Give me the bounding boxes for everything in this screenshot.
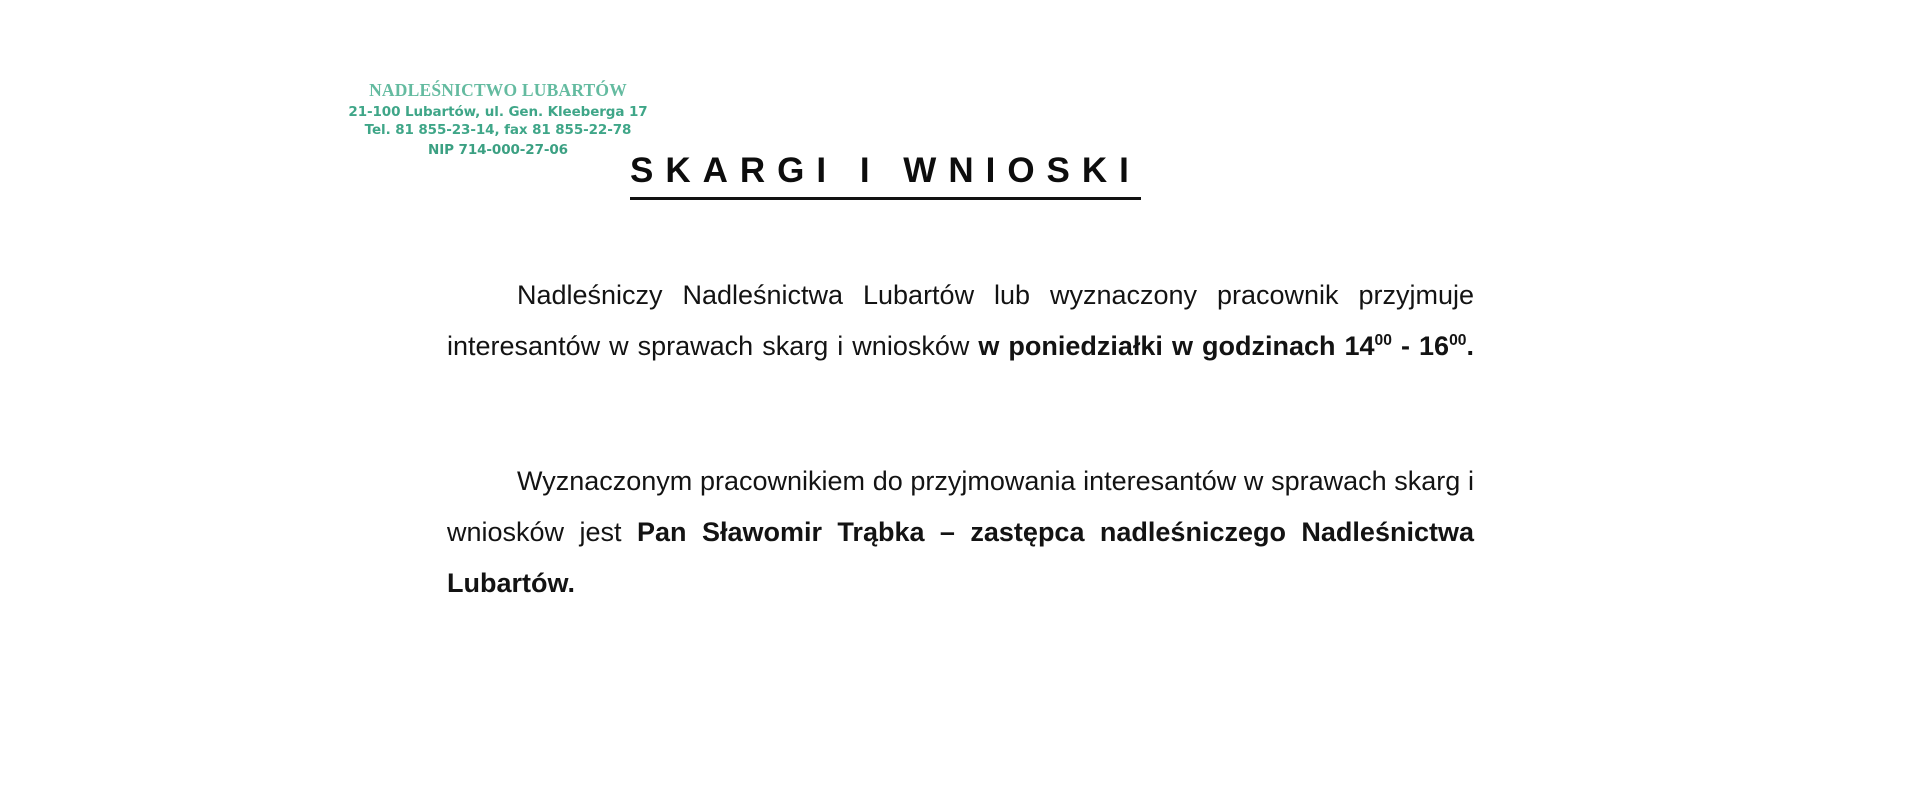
page-title: SKARGI I WNIOSKI (630, 151, 1141, 200)
stamp-nip-number: NIP 714-000-27-06 (338, 142, 658, 159)
hours-start-superscript: 00 (1375, 332, 1392, 349)
stamp-organization-name: NADLEŚNICTWO LUBARTÓW (338, 80, 658, 102)
hours-end-superscript: 00 (1449, 332, 1466, 349)
office-hours-statement: w poniedziałki w godzinach 1400 - 1600. (978, 331, 1474, 361)
office-hours-period: . (1466, 331, 1474, 361)
stamp-phone-fax: Tel. 81 855-23-14, fax 81 855-22-78 (338, 122, 658, 139)
office-hours-label: w poniedziałki w godzinach 14 (978, 331, 1374, 361)
document-body: Nadleśniczy Nadleśnictwa Lubartów lub wy… (447, 270, 1474, 660)
office-stamp: NADLEŚNICTWO LUBARTÓW 21-100 Lubartów, u… (338, 80, 658, 159)
stamp-address: 21-100 Lubartów, ul. Gen. Kleeberga 17 (338, 104, 658, 121)
document-page: NADLEŚNICTWO LUBARTÓW 21-100 Lubartów, u… (0, 0, 1920, 810)
paragraph-office-hours: Nadleśniczy Nadleśnictwa Lubartów lub wy… (447, 270, 1474, 423)
paragraph-designated-employee: Wyznaczonym pracownikiem do przyjmowania… (447, 456, 1474, 660)
hours-separator: - 16 (1392, 331, 1449, 361)
